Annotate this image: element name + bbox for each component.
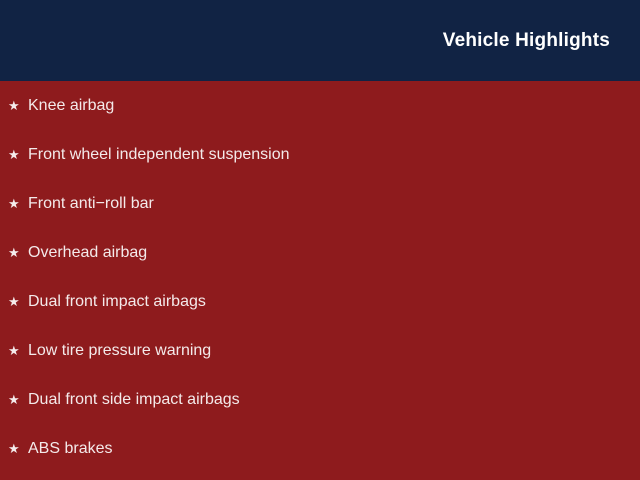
slide-header: Vehicle Highlights	[0, 0, 640, 81]
star-bullet-icon: ★	[8, 295, 28, 308]
star-bullet-icon: ★	[8, 197, 28, 210]
list-item-label: Dual front side impact airbags	[28, 390, 240, 409]
list-item: ★ Dual front side impact airbags	[0, 375, 640, 424]
list-item-label: Low tire pressure warning	[28, 341, 211, 360]
list-item-label: Front wheel independent suspension	[28, 145, 290, 164]
list-item: ★ Front wheel independent suspension	[0, 130, 640, 179]
list-item: ★ ABS brakes	[0, 424, 640, 473]
vehicle-highlights-list: ★ Knee airbag ★ Front wheel independent …	[0, 81, 640, 473]
star-bullet-icon: ★	[8, 442, 28, 455]
slide-body: ★ Knee airbag ★ Front wheel independent …	[0, 81, 640, 480]
star-bullet-icon: ★	[8, 148, 28, 161]
star-bullet-icon: ★	[8, 99, 28, 112]
list-item: ★ Low tire pressure warning	[0, 326, 640, 375]
list-item-label: ABS brakes	[28, 439, 112, 458]
list-item: ★ Knee airbag	[0, 81, 640, 130]
vehicle-highlights-slide: Vehicle Highlights ★ Knee airbag ★ Front…	[0, 0, 640, 480]
list-item: ★ Dual front impact airbags	[0, 277, 640, 326]
list-item: ★ Front anti−roll bar	[0, 179, 640, 228]
star-bullet-icon: ★	[8, 344, 28, 357]
list-item: ★ Overhead airbag	[0, 228, 640, 277]
star-bullet-icon: ★	[8, 246, 28, 259]
list-item-label: Dual front impact airbags	[28, 292, 206, 311]
list-item-label: Front anti−roll bar	[28, 194, 154, 213]
list-item-label: Overhead airbag	[28, 243, 147, 262]
star-bullet-icon: ★	[8, 393, 28, 406]
page-title: Vehicle Highlights	[443, 31, 610, 50]
list-item-label: Knee airbag	[28, 96, 114, 115]
